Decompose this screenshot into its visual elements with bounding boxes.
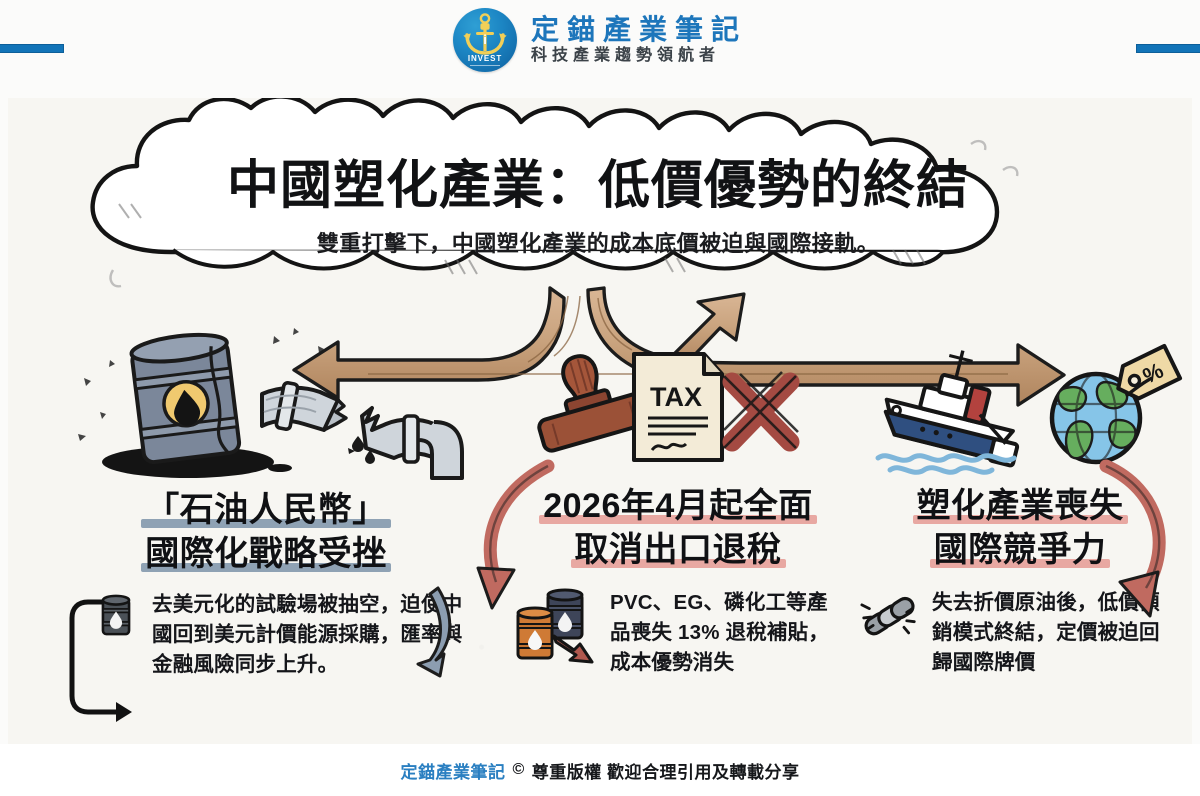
brand-text-block: 定錨產業筆記 科技產業趨勢領航者 [531,15,747,65]
heading-line-2: 取消出口退稅 [571,528,786,572]
infographic-canvas: 中國塑化產業：低價優勢的終結 雙重打擊下，中國塑化產業的成本底價被迫與國際接軌。 [8,98,1192,744]
heading-petro-yuan: 「石油人民幣」 國際化戰略受挫 [66,488,466,576]
body-text-export-tax-rebate: PVC、EG、磷化工等產品喪失 13% 退稅補貼，成本優勢消失 [610,588,848,677]
heading-lost-competitiveness: 塑化產業喪失 國際競爭力 [860,484,1180,572]
slate-pointer-arrow-icon [384,584,464,694]
two-oil-drums-down-arrow-icon [514,588,600,666]
page-subtitle: 雙重打擊下，中國塑化產業的成本底價被迫與國際接軌。 [53,226,1143,258]
title-cloud: 中國塑化產業：低價優勢的終結 雙重打擊下，中國塑化產業的成本底價被迫與國際接軌。 [53,100,1143,330]
logo-badge-text: INVEST [453,54,517,63]
heading-line-1: 「石油人民幣」 [141,488,391,532]
page-title: 中國塑化產業：低價優勢的終結 [53,158,1143,214]
brand-title: 定錨產業筆記 [531,15,747,44]
heading-line-2: 國際競爭力 [930,528,1111,572]
broken-chain-icon [860,588,922,650]
copyright-icon: © [512,761,524,779]
anchor-invest-logo-icon: i INVEST [453,8,517,72]
page-header: i INVEST 定錨產業筆記 科技產業趨勢領航者 [0,0,1200,98]
body-row-export-tax-rebate: PVC、EG、磷化工等產品喪失 13% 退稅補貼，成本優勢消失 [514,588,848,677]
svg-text:i: i [483,32,487,47]
heading-line-2: 國際化戰略受挫 [141,532,391,576]
page-footer: 定錨產業筆記 © 尊重版權 歡迎合理引用及轉載分享 [0,744,1200,796]
footer-note: 尊重版權 歡迎合理引用及轉載分享 [532,758,800,783]
footer-brand: 定錨產業筆記 [400,758,505,783]
logo-divider [470,65,500,66]
column-export-tax-rebate: TAX [508,334,848,678]
infographic-page: i INVEST 定錨產業筆記 科技產業趨勢領航者 [0,0,1200,796]
oil-drum-icon [96,590,142,646]
column-lost-competitiveness: % 塑化產業喪失 國際競爭力 [860,334,1180,678]
svg-text:TAX: TAX [650,382,702,412]
brand-lockup: i INVEST 定錨產業筆記 科技產業趨勢領航者 [0,8,1200,72]
oil-barrel-broken-pipe-illustration [66,320,466,488]
heading-line-1: 塑化產業喪失 [913,484,1128,528]
column-petro-yuan: 「石油人民幣」 國際化戰略受挫 [66,320,466,680]
heading-export-tax-rebate: 2026年4月起全面 取消出口退稅 [508,484,848,572]
brand-subtitle: 科技產業趨勢領航者 [531,47,747,65]
heading-line-1: 2026年4月起全面 [539,484,817,528]
